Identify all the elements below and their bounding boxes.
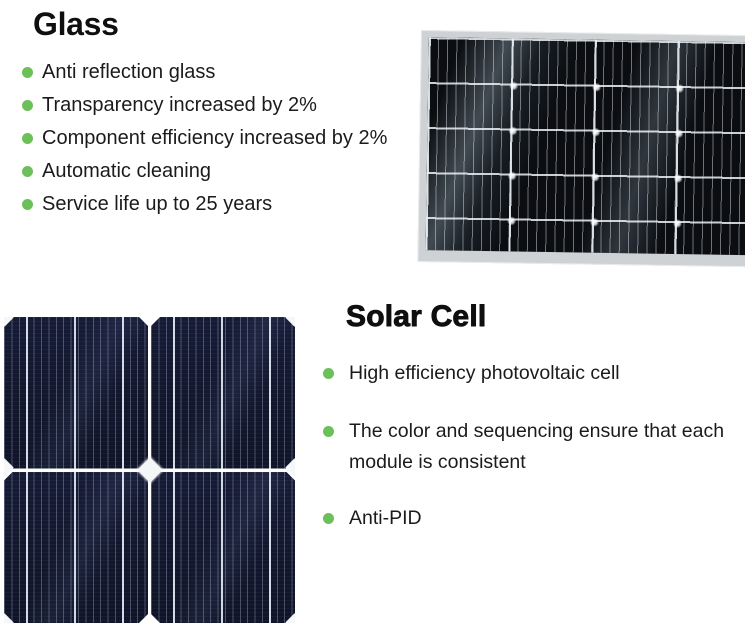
bullet-icon — [22, 166, 33, 177]
list-item: Anti reflection glass — [22, 56, 417, 89]
glass-feature-list: Anti reflection glass Transparency incre… — [22, 56, 417, 221]
bullet-icon — [22, 133, 33, 144]
list-item: The color and sequencing ensure that eac… — [323, 416, 733, 478]
feature-sheet-page: Glass Anti reflection glass Transparency… — [0, 0, 745, 623]
cell-busbars — [151, 472, 295, 623]
cell-busbars — [151, 317, 295, 469]
solar-cell — [151, 317, 295, 469]
bullet-icon — [22, 67, 33, 78]
list-item-label: The color and sequencing ensure that eac… — [349, 416, 733, 478]
cell-busbars — [4, 472, 148, 623]
module-frame — [417, 30, 745, 268]
list-item-label: Transparency increased by 2% — [42, 89, 417, 122]
solder-joint-dots — [426, 37, 745, 255]
list-item: Component efficiency increased by 2% — [22, 122, 417, 155]
solar-cell — [151, 472, 295, 623]
list-item: Service life up to 25 years — [22, 188, 417, 221]
solar-cell — [4, 472, 148, 623]
list-item-label: Automatic cleaning — [42, 155, 417, 188]
solar-cell-photo — [4, 317, 295, 623]
list-item: Transparency increased by 2% — [22, 89, 417, 122]
bullet-icon — [323, 368, 334, 379]
solar-module-photo — [415, 26, 745, 291]
list-item-label: Anti-PID — [349, 503, 733, 534]
list-item-label: Anti reflection glass — [42, 56, 417, 89]
bullet-icon — [22, 100, 33, 111]
bullet-icon — [323, 426, 334, 437]
module-cell-array — [426, 37, 745, 255]
list-item-label: Service life up to 25 years — [42, 188, 417, 221]
solar-cell-feature-list: High efficiency photovoltaic cell The co… — [323, 358, 733, 561]
list-item: High efficiency photovoltaic cell — [323, 358, 733, 391]
list-item: Automatic cleaning — [22, 155, 417, 188]
solar-cell — [4, 317, 148, 469]
list-item: Anti-PID — [323, 503, 733, 536]
list-item-label: Component efficiency increased by 2% — [42, 122, 417, 155]
bullet-icon — [22, 199, 33, 210]
glass-section-heading: Glass — [33, 6, 119, 42]
solar-cell-section-heading: Solar Cell — [346, 300, 486, 334]
bullet-icon — [323, 513, 334, 524]
cell-busbars — [4, 317, 148, 469]
list-item-label: High efficiency photovoltaic cell — [349, 358, 733, 389]
